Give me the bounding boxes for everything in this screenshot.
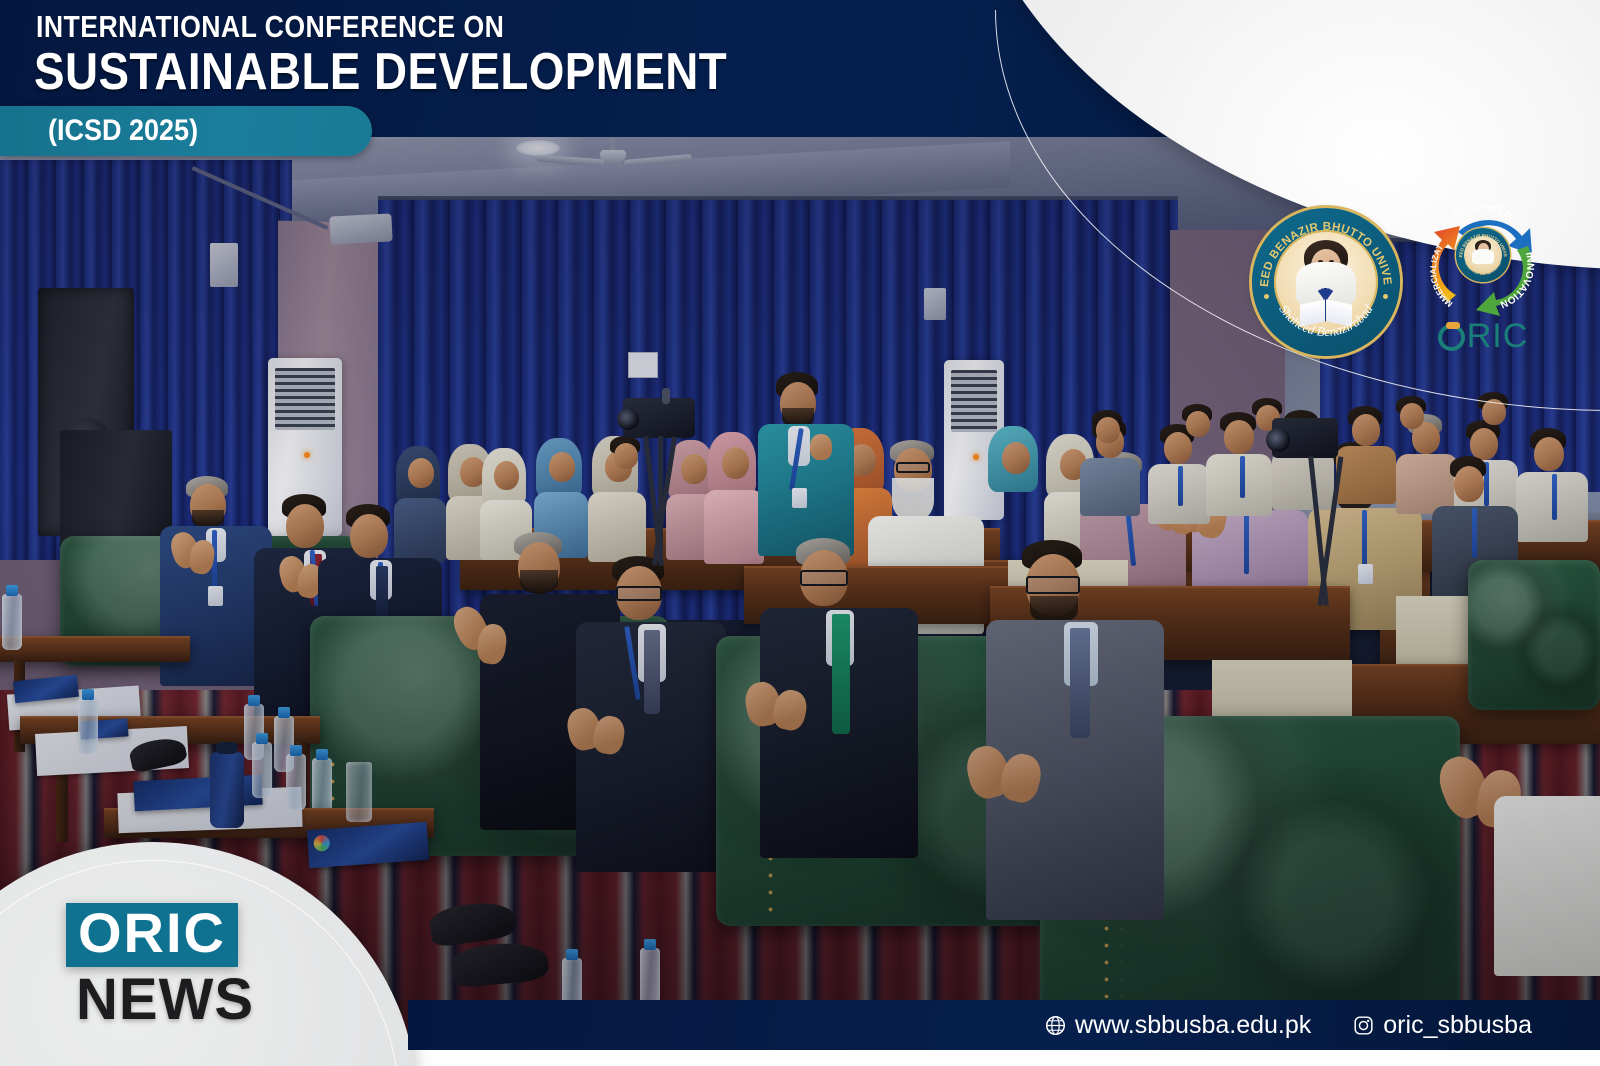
water-bottle [2,594,22,650]
camera-microphone [662,388,670,404]
oric-o-glyph [1438,324,1465,351]
oric-inner-arc-text: SHAHEED BENAZIR BHUTTO UNIVERSITY [1456,228,1508,258]
oric-news-text-block: ORIC NEWS [66,903,254,1029]
svg-text:RESEARCH: RESEARCH [1451,206,1516,222]
wall-mounted-box-2 [924,288,946,320]
footer-instagram[interactable]: oric_sbbusba [1353,1011,1532,1040]
conference-acronym-pill: (ICSD 2025) [0,106,372,156]
oric-news-news-label: NEWS [76,971,254,1029]
poster-canvas: INTERNATIONAL CONFERENCE ON SUSTAINABLE … [0,0,1600,1066]
water-bottle [286,754,306,810]
water-bottle [640,948,660,1004]
water-glass [346,762,372,822]
tripod-leg [658,436,663,556]
ceiling-projector [329,213,392,244]
footer-instagram-text: oric_sbbusba [1383,1011,1532,1040]
oric-wordmark-text: RIC [1467,317,1529,355]
wall-mounted-box [210,243,238,287]
oric-news-oric-label: ORIC [66,903,238,967]
ceiling-fan-icon [540,138,690,166]
conference-acronym-label: (ICSD 2025) [48,114,198,148]
footer-bar: www.sbbusba.edu.pk oric_sbbusba [408,1000,1600,1050]
camera-lens-icon [617,408,639,430]
svg-text:SHAHEED BENAZIR BHUTTO UNIVERS: SHAHEED BENAZIR BHUTTO UNIVERSITY [1456,228,1508,258]
sofa [1468,560,1600,710]
oric-inner-seal: SHAHEED BENAZIR BHUTTO UNIVERSITY Shahee… [1456,228,1510,282]
coffee-table [0,636,190,662]
camera-lens-icon-2 [1266,428,1290,452]
arrow-research-label: RESEARCH [1451,206,1516,222]
water-bottle [252,742,272,798]
wall-notice [628,352,658,378]
svg-text:Shaheed Benazirabad: Shaheed Benazirabad [1276,302,1375,339]
thermos-flask [210,752,244,828]
water-bottle [78,698,98,754]
instagram-icon [1353,1015,1374,1036]
svg-text:Shaheed Benazirabad: Shaheed Benazirabad [1464,261,1502,276]
footer-underline [408,1050,1600,1066]
water-bottle [312,758,332,814]
logo-group: SHAHEED BENAZIR BHUTTO UNIVERSITY [1252,206,1548,358]
oric-inner-arc-bottom: Shaheed Benazirabad [1464,261,1502,276]
seal-arc-bottom-text: Shaheed Benazirabad [1276,302,1375,339]
university-seal-icon: SHAHEED BENAZIR BHUTTO UNIVERSITY [1252,208,1400,356]
footer-website-text: www.sbbusba.edu.pk [1075,1011,1311,1040]
oric-wordmark: RIC [1420,317,1546,356]
footer-website[interactable]: www.sbbusba.edu.pk [1045,1011,1311,1040]
conference-title-line-1: INTERNATIONAL CONFERENCE ON [36,11,504,42]
conference-title-line-2: SUSTAINABLE DEVELOPMENT [34,46,727,98]
globe-icon [1045,1015,1066,1036]
oric-cycle-icon: RESEARCH INNOVATION COMMERCIALIZATION SH… [1418,206,1548,358]
